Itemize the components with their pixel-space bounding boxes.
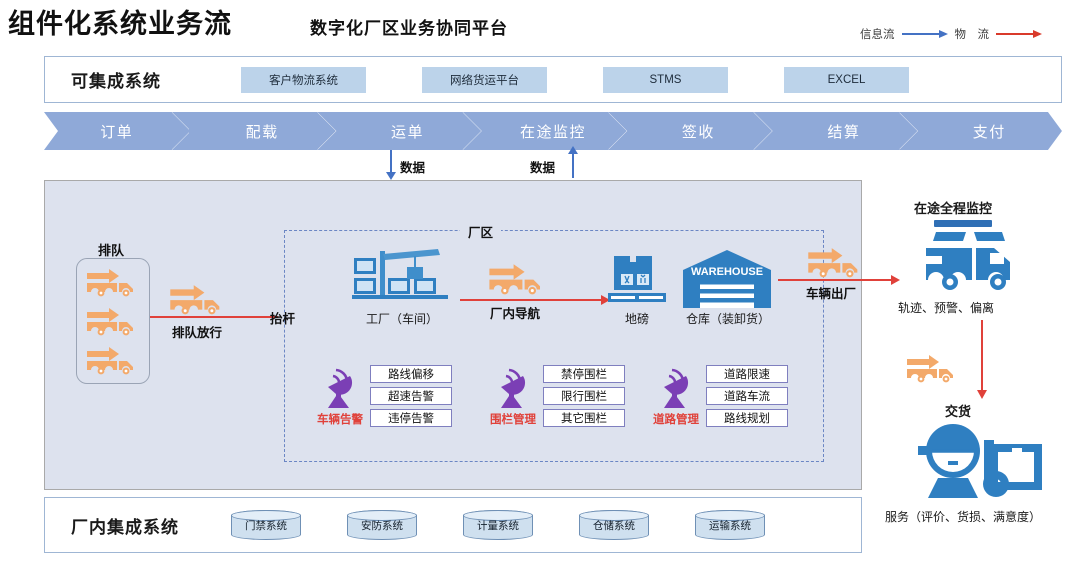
truck-icon	[168, 283, 228, 315]
truck-icon	[85, 345, 141, 375]
legend-goods-label: 物 流	[955, 26, 990, 42]
mgmt-chip[interactable]: 违停告警	[370, 409, 452, 427]
factory-integrated-systems-bar: 厂内集成系统 门禁系统 安防系统 计量系统 仓储系统 运输系统	[44, 497, 862, 553]
info-flow-arrow-icon	[902, 29, 948, 39]
road-management-icon-wrap: 道路管理	[650, 366, 702, 427]
factory-zone-label: 厂区	[460, 222, 501, 241]
vehicle-exit-arrowhead-icon	[891, 275, 900, 285]
factory-workshop-caption: 工厂（车间）	[346, 310, 458, 327]
satellite-dish-icon	[493, 366, 533, 410]
factory-system-label: 运输系统	[709, 518, 751, 533]
weighbridge-box-icon	[608, 252, 666, 307]
gate-lift-label: 抬杆	[270, 308, 295, 327]
mgmt-chip[interactable]: 路线规划	[706, 409, 788, 427]
warehouse-caption: 仓库（装卸货）	[672, 310, 784, 327]
integrable-system-chip[interactable]: 客户物流系统	[241, 67, 366, 93]
queue-label: 排队	[98, 240, 124, 259]
integrable-systems-bar: 可集成系统 客户物流系统 网络货运平台 STMS EXCEL	[44, 56, 1062, 103]
delivery-service-icon	[908, 418, 1058, 506]
factory-system-chip[interactable]: 计量系统	[463, 510, 533, 540]
road-management-items: 道路限速 道路车流 路线规划	[706, 365, 788, 427]
factory-integrated-systems-title: 厂内集成系统	[71, 513, 231, 538]
platform-title: 数字化厂区业务协同平台	[0, 14, 818, 39]
delivery-flow-line	[981, 320, 983, 392]
vehicle-alarm-icon-wrap: 车辆告警	[314, 366, 366, 427]
in-factory-nav-flow-line	[460, 299, 602, 301]
vehicle-alarm-group: 车辆告警 路线偏移 超速告警 违停告警	[314, 365, 452, 427]
process-flow-band: 订单 配载 运单 在途监控 签收 结算 支付	[44, 112, 1062, 150]
factory-system-label: 安防系统	[361, 518, 403, 533]
factory-system-label: 计量系统	[477, 518, 519, 533]
factory-system-chip[interactable]: 仓储系统	[579, 510, 649, 540]
process-step-transit-monitor[interactable]: 在途监控	[480, 112, 625, 150]
factory-system-chip[interactable]: 运输系统	[695, 510, 765, 540]
integrable-system-chip[interactable]: EXCEL	[784, 67, 909, 93]
factory-system-label: 门禁系统	[245, 518, 287, 533]
process-step-waybill[interactable]: 运单	[335, 112, 480, 150]
mgmt-chip[interactable]: 限行围栏	[543, 387, 625, 405]
data-flow-down-label: 数据	[400, 157, 425, 176]
mgmt-chip[interactable]: 道路限速	[706, 365, 788, 383]
goods-flow-arrow-icon	[996, 29, 1042, 39]
service-caption: 服务（评价、货损、满意度）	[885, 508, 1041, 525]
fence-management-label: 围栏管理	[490, 411, 536, 427]
factory-workshop-icon	[352, 248, 452, 306]
process-step-loading[interactable]: 配载	[189, 112, 334, 150]
mgmt-chip[interactable]: 超速告警	[370, 387, 452, 405]
road-management-group: 道路管理 道路限速 道路车流 路线规划	[650, 365, 788, 427]
data-flow-up-arrowhead-icon	[568, 146, 578, 154]
legend: 信息流 物 流	[860, 26, 1042, 42]
vehicle-exit-label: 车辆出厂	[806, 283, 856, 302]
warehouse-icon: WAREHOUSE	[683, 250, 771, 308]
satellite-dish-icon	[320, 366, 360, 410]
mgmt-chip[interactable]: 道路车流	[706, 387, 788, 405]
mgmt-chip[interactable]: 禁停围栏	[543, 365, 625, 383]
truck-icon	[806, 246, 866, 278]
mgmt-chip[interactable]: 路线偏移	[370, 365, 452, 383]
data-flow-down-arrowhead-icon	[386, 172, 396, 180]
data-flow-down-shaft	[390, 150, 392, 174]
process-step-settlement[interactable]: 结算	[771, 112, 916, 150]
fence-management-items: 禁停围栏 限行围栏 其它围栏	[543, 365, 625, 427]
delivery-arrowhead-icon	[977, 390, 987, 399]
factory-system-label: 仓储系统	[593, 518, 635, 533]
transit-monitoring-caption: 轨迹、预警、偏离	[898, 299, 994, 316]
truck-icon	[487, 262, 549, 295]
queue-truck-box	[76, 258, 150, 384]
satellite-dish-icon	[656, 366, 696, 410]
in-factory-nav-label: 厂内导航	[490, 303, 540, 322]
vehicle-alarm-label: 车辆告警	[317, 411, 363, 427]
queue-release-flow-line	[150, 316, 278, 318]
weighbridge-caption: 地磅	[605, 310, 669, 327]
factory-system-chip[interactable]: 门禁系统	[231, 510, 301, 540]
queue-release-label: 排队放行	[172, 322, 222, 341]
integrable-systems-title: 可集成系统	[71, 67, 241, 92]
data-flow-up-label: 数据	[530, 157, 555, 176]
truck-icon	[905, 352, 961, 384]
transit-truck-icon	[916, 218, 1026, 296]
vehicle-exit-flow-line	[778, 279, 892, 281]
fence-management-group: 围栏管理 禁停围栏 限行围栏 其它围栏	[487, 365, 625, 427]
mgmt-chip[interactable]: 其它围栏	[543, 409, 625, 427]
legend-info-label: 信息流	[860, 26, 895, 42]
process-step-signoff[interactable]: 签收	[626, 112, 771, 150]
transit-monitoring-title: 在途全程监控	[914, 198, 992, 217]
warehouse-word: WAREHOUSE	[691, 266, 763, 278]
truck-icon	[85, 306, 141, 336]
fence-management-icon-wrap: 围栏管理	[487, 366, 539, 427]
data-flow-up-shaft	[572, 152, 574, 178]
process-step-order[interactable]: 订单	[44, 112, 189, 150]
integrable-system-chip[interactable]: 网络货运平台	[422, 67, 547, 93]
vehicle-alarm-items: 路线偏移 超速告警 违停告警	[370, 365, 452, 427]
process-step-payment[interactable]: 支付	[917, 112, 1062, 150]
road-management-label: 道路管理	[653, 411, 699, 427]
factory-system-chip[interactable]: 安防系统	[347, 510, 417, 540]
integrable-system-chip[interactable]: STMS	[603, 67, 728, 93]
truck-icon	[85, 267, 141, 297]
